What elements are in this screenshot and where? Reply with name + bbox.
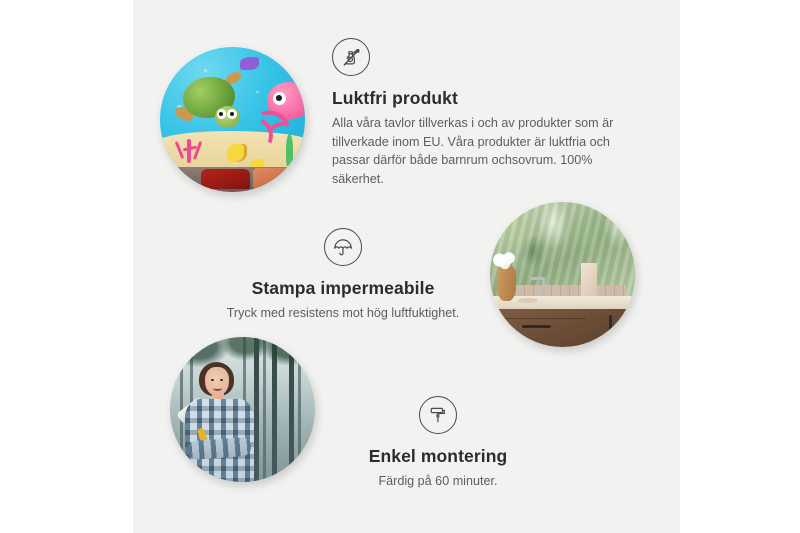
umbrella-icon xyxy=(324,228,362,266)
feature-image-bathroom xyxy=(490,202,635,347)
feature-title: Stampa impermeabile xyxy=(193,278,493,299)
content-panel: Luktfri produkt Alla våra tavlor tillver… xyxy=(133,0,680,533)
feature-image-forest xyxy=(170,337,315,482)
feature-image-underwater xyxy=(160,47,305,192)
feature-text-odourless: Luktfri produkt Alla våra tavlor tillver… xyxy=(332,38,632,188)
feature-text-easy-mounting: Enkel montering Färdig på 60 minuter. xyxy=(303,396,573,491)
feature-title: Luktfri produkt xyxy=(332,88,632,109)
feature-text-waterproof: Stampa impermeabile Tryck med resistens … xyxy=(193,228,493,323)
feature-body: Alla våra tavlor tillverkas i och av pro… xyxy=(332,114,632,188)
feature-body: Färdig på 60 minuter. xyxy=(303,472,573,491)
screenshot-root: Luktfri produkt Alla våra tavlor tillver… xyxy=(0,0,800,533)
no-perfume-icon xyxy=(332,38,370,76)
paint-roller-icon xyxy=(419,396,457,434)
feature-title: Enkel montering xyxy=(303,446,573,467)
feature-body: Tryck med resistens mot hög luftfuktighe… xyxy=(193,304,493,323)
